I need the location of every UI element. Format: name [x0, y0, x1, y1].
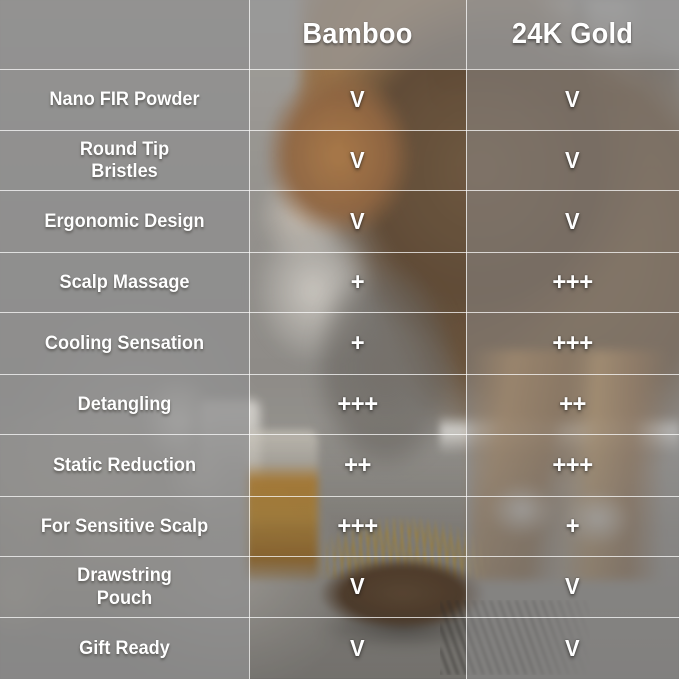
table-row: Round Tip Bristles V V	[0, 130, 679, 190]
feature-label-line-1: For Sensitive Scalp	[9, 515, 241, 537]
feature-label-line-1: Ergonomic Design	[9, 210, 241, 232]
table-row: Ergonomic Design V V	[0, 190, 679, 252]
cell-detangling-24k-gold: ++	[471, 374, 673, 434]
cell-scalp-massage-bamboo: +	[254, 252, 460, 312]
table-row: Drawstring Pouch V V	[0, 556, 679, 617]
feature-label-line-1: Round Tip	[9, 138, 241, 160]
header-row: Bamboo 24K Gold	[0, 0, 679, 69]
cell-for-sensitive-scalp-24k-gold: +	[471, 496, 673, 556]
column-header-24k-gold: 24K Gold	[472, 0, 672, 69]
feature-column-header	[0, 0, 249, 69]
cell-detangling-bamboo: +++	[254, 374, 460, 434]
feature-label-line-1: Detangling	[9, 393, 241, 415]
feature-label-line-2: Bristles	[9, 160, 241, 182]
column-header-bamboo-label: Bamboo	[256, 18, 460, 51]
feature-label-line-2: Pouch	[9, 587, 241, 609]
feature-label-line-1: Scalp Massage	[9, 271, 241, 293]
table-row: Static Reduction ++ +++	[0, 434, 679, 496]
cell-ergonomic-design-24k-gold: V	[471, 190, 673, 252]
cell-round-tip-bristles-bamboo: V	[254, 130, 460, 190]
feature-label-drawstring-pouch: Drawstring Pouch	[9, 556, 241, 617]
table-row: Detangling +++ ++	[0, 374, 679, 434]
cell-nano-fir-powder-bamboo: V	[254, 69, 460, 130]
feature-label-line-1: Gift Ready	[9, 637, 241, 659]
table-row: Cooling Sensation + +++	[0, 312, 679, 374]
feature-label-scalp-massage: Scalp Massage	[9, 252, 241, 312]
feature-label-ergonomic-design: Ergonomic Design	[9, 190, 241, 252]
feature-label-round-tip-bristles: Round Tip Bristles	[9, 130, 241, 190]
table-row: Nano FIR Powder V V	[0, 69, 679, 130]
feature-label-line-1: Nano FIR Powder	[9, 88, 241, 110]
cell-for-sensitive-scalp-bamboo: +++	[254, 496, 460, 556]
cell-static-reduction-24k-gold: +++	[471, 434, 673, 496]
feature-label-detangling: Detangling	[9, 374, 241, 434]
feature-label-line-1: Drawstring	[9, 564, 241, 586]
feature-label-gift-ready: Gift Ready	[9, 617, 241, 679]
column-header-bamboo: Bamboo	[256, 0, 460, 69]
cell-static-reduction-bamboo: ++	[254, 434, 460, 496]
table-row: Gift Ready V V	[0, 617, 679, 679]
feature-label-nano-fir-powder: Nano FIR Powder	[9, 69, 241, 130]
cell-gift-ready-24k-gold: V	[471, 617, 673, 679]
comparison-table-graphic: Bamboo 24K Gold Nano FIR Powder V V Roun…	[0, 0, 679, 679]
cell-drawstring-pouch-bamboo: V	[254, 556, 460, 617]
cell-cooling-sensation-bamboo: +	[254, 312, 460, 374]
feature-label-line-1: Static Reduction	[9, 454, 241, 476]
column-header-24k-gold-label: 24K Gold	[472, 18, 672, 51]
table-row: Scalp Massage + +++	[0, 252, 679, 312]
feature-comparison-table: Bamboo 24K Gold Nano FIR Powder V V Roun…	[0, 0, 679, 679]
table-header: Bamboo 24K Gold	[0, 0, 679, 69]
feature-label-static-reduction: Static Reduction	[9, 434, 241, 496]
cell-gift-ready-bamboo: V	[254, 617, 460, 679]
cell-drawstring-pouch-24k-gold: V	[471, 556, 673, 617]
cell-nano-fir-powder-24k-gold: V	[471, 69, 673, 130]
cell-round-tip-bristles-24k-gold: V	[471, 130, 673, 190]
cell-scalp-massage-24k-gold: +++	[471, 252, 673, 312]
feature-label-for-sensitive-scalp: For Sensitive Scalp	[9, 496, 241, 556]
feature-label-cooling-sensation: Cooling Sensation	[9, 312, 241, 374]
cell-ergonomic-design-bamboo: V	[254, 190, 460, 252]
table-row: For Sensitive Scalp +++ +	[0, 496, 679, 556]
table-body: Nano FIR Powder V V Round Tip Bristles V…	[0, 69, 679, 679]
cell-cooling-sensation-24k-gold: +++	[471, 312, 673, 374]
feature-label-line-1: Cooling Sensation	[9, 332, 241, 354]
